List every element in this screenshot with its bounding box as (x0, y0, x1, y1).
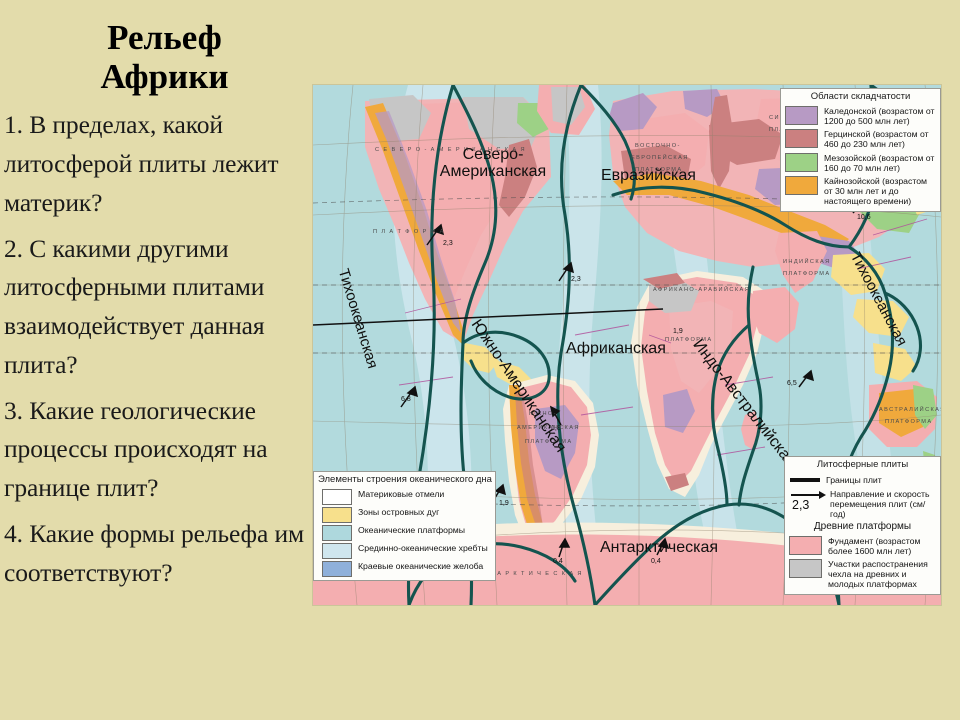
legend-label: Герцинской (возрастом от 460 до 230 млн … (824, 129, 937, 149)
swatch-oceanic-platforms (322, 525, 352, 541)
legend-row: Срединно-океанические хребты (314, 542, 495, 560)
legend-lithospheric-plates: Литосферные плиты Границы плит 2,3 Напра… (784, 456, 941, 595)
legend-label: Кайнозойской (возрастом от 30 млн лет и … (824, 176, 937, 207)
swatch-hercynian (785, 129, 818, 148)
legend-label: Направление и скорость перемещения плит … (830, 489, 937, 520)
swatch-caledonian (785, 106, 818, 125)
question-4: 4. Какие формы рельефа им соответствуют? (4, 515, 307, 593)
svg-text:1,9: 1,9 (673, 328, 683, 335)
question-3: 3. Какие геологические процессы происход… (4, 392, 307, 508)
swatch-cenozoic (785, 176, 818, 195)
svg-text:2,3: 2,3 (571, 276, 581, 283)
svg-text:ЕВРОПЕЙСКАЯ: ЕВРОПЕЙСКАЯ (631, 153, 689, 161)
plate-boundary-line-icon (790, 478, 820, 482)
svg-text:10,6: 10,6 (857, 214, 871, 221)
svg-text:АФРИКАНО-АРАВИЙСКАЯ: АФРИКАНО-АРАВИЙСКАЯ (653, 285, 750, 293)
legend-row: Кайнозойской (возрастом от 30 млн лет и … (781, 175, 940, 209)
svg-text:П Л А Т Ф О Р М А: П Л А Т Ф О Р М А (373, 229, 445, 235)
svg-text:С Е В Е Р О - А М Е Р И К А Н: С Е В Е Р О - А М Е Р И К А Н С К А Я (375, 147, 526, 153)
svg-text:ПЛАТФОРМА: ПЛАТФОРМА (885, 419, 932, 425)
legend-row: Каледонской (возрастом от 1200 до 500 мл… (781, 105, 940, 128)
svg-text:АВСТРАЛИЙСКАЯ: АВСТРАЛИЙСКАЯ (879, 405, 941, 413)
slide-text-column: Рельеф Африки 1. В пределах, какой литос… (0, 0, 313, 720)
svg-text:6,8: 6,8 (401, 396, 411, 403)
legend-row: Мезозойской (возрастом от 160 до 70 млн … (781, 152, 940, 175)
swatch-mid-ocean-ridges (322, 543, 352, 559)
svg-text:ПЛАТФОРМА: ПЛАТФОРМА (665, 337, 712, 343)
legend-folding-title: Области складчатости (781, 89, 940, 105)
swatch-sedimentary-cover (789, 559, 822, 578)
legend-row: Океанические платформы (314, 524, 495, 542)
legend-ocean-floor: Элементы строения океанического дна Мате… (313, 471, 496, 581)
legend-label: Мезозойской (возрастом от 160 до 70 млн … (824, 153, 937, 173)
motion-speed-value: 2,3 (792, 498, 809, 512)
legend-label: Участки распостранения чехла на древних … (828, 559, 937, 590)
swatch-mesozoic (785, 153, 818, 172)
page-title-line1: Рельеф (22, 18, 307, 57)
svg-text:ИНДИЙСКАЯ: ИНДИЙСКАЯ (783, 257, 831, 265)
svg-text:ПЛАТФОРМА: ПЛАТФОРМА (635, 167, 682, 173)
legend-row-plate-motion: 2,3 Направление и скорость перемещения п… (785, 487, 940, 520)
legend-label: Краевые океанические желоба (358, 561, 483, 571)
question-2: 2. С какими другими литосферными плитами… (4, 230, 307, 385)
legend-row: Материковые отмели (314, 488, 495, 506)
legend-row: Зоны островных дуг (314, 506, 495, 524)
legend-plates-title: Литосферные плиты (785, 457, 940, 473)
legend-label: Материковые отмели (358, 489, 444, 499)
legend-label: Фундамент (возрастом более 1600 млн лет) (828, 536, 937, 556)
motion-arrow-icon: 2,3 (790, 489, 826, 511)
legend-folding-areas: Области складчатости Каледонской (возрас… (780, 88, 941, 212)
legend-row: Участки распостранения чехла на древних … (785, 558, 940, 592)
svg-text:1,9: 1,9 (499, 500, 509, 507)
question-1: 1. В пределах, какой литосферой плиты ле… (4, 106, 307, 222)
swatch-basement (789, 536, 822, 555)
svg-text:АМЕРИКАНСКАЯ: АМЕРИКАНСКАЯ (517, 425, 580, 431)
legend-label: Океанические платформы (358, 525, 465, 535)
swatch-island-arcs (322, 507, 352, 523)
svg-text:ЮЖНО-: ЮЖНО- (529, 411, 557, 417)
svg-text:ПЛАТФОРМА: ПЛАТФОРМА (525, 439, 572, 445)
legend-row: Краевые океанические желоба (314, 560, 495, 578)
legend-label: Зоны островных дуг (358, 507, 439, 517)
legend-label: Срединно-океанические хребты (358, 543, 488, 553)
legend-ocean-title: Элементы строения океанического дна (314, 472, 495, 488)
legend-row: Герцинской (возрастом от 460 до 230 млн … (781, 128, 940, 151)
svg-text:0,4: 0,4 (651, 558, 661, 565)
page-title: Рельеф Африки (4, 18, 307, 96)
svg-text:ПЛАТФОРМА: ПЛАТФОРМА (783, 271, 830, 277)
svg-text:0,4: 0,4 (553, 558, 563, 565)
svg-text:ВОСТОЧНО-: ВОСТОЧНО- (635, 143, 681, 149)
svg-text:2,3: 2,3 (443, 240, 453, 247)
legend-row-plate-boundaries: Границы плит (785, 473, 940, 487)
legend-ancient-platforms-title: Древние платформы (785, 520, 940, 535)
swatch-oceanic-trenches (322, 561, 352, 577)
legend-row: Фундамент (возрастом более 1600 млн лет) (785, 535, 940, 558)
legend-label: Границы плит (826, 475, 882, 485)
swatch-continental-shelf (322, 489, 352, 505)
legend-label: Каледонской (возрастом от 1200 до 500 мл… (824, 106, 937, 126)
page-title-line2: Африки (22, 57, 307, 96)
svg-text:6,5: 6,5 (787, 380, 797, 387)
